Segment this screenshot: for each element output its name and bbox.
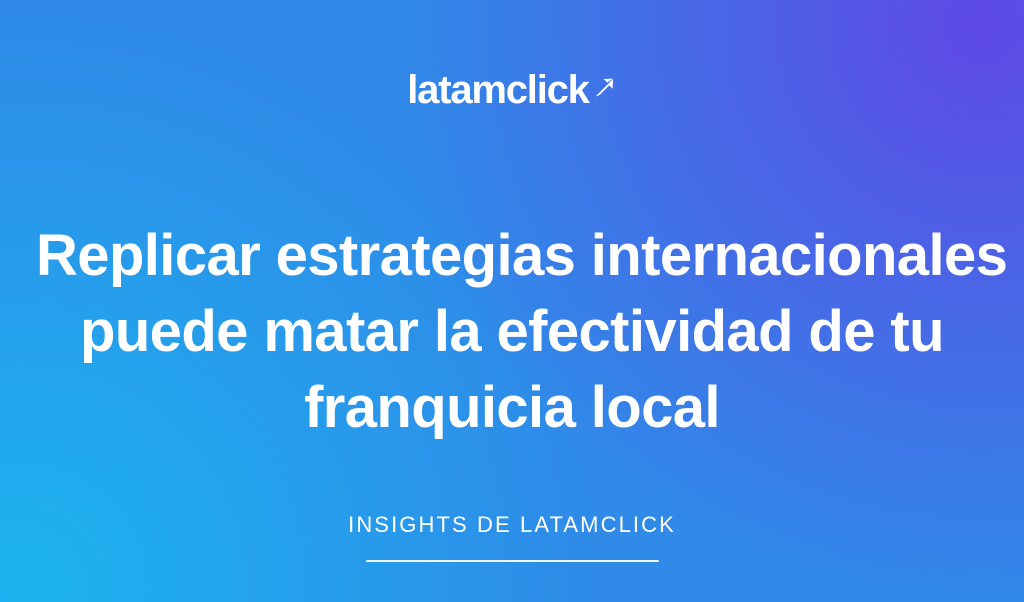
headline-line-2: puede matar la efectividad de tu [36,294,988,370]
logo-wordmark: latamclick [407,68,588,112]
chevron-accent-icon [591,74,617,105]
divider-container [0,560,1024,562]
footer-kicker: INSIGHTS DE LATAMCLICK [0,512,1024,538]
slide-content: latamclick Replicar estrategias internac… [0,0,1024,602]
headline-line-3: franquicia local [36,370,988,446]
headline-line-1: Replicar estrategias internacionales [36,218,988,294]
logo-lockup: latamclick [407,68,616,112]
insight-card-slide: latamclick Replicar estrategias internac… [0,0,1024,602]
page-title: Replicar estrategias internacionales pue… [0,218,1024,446]
brand-logo: latamclick [0,68,1024,112]
divider-rule [366,560,659,562]
